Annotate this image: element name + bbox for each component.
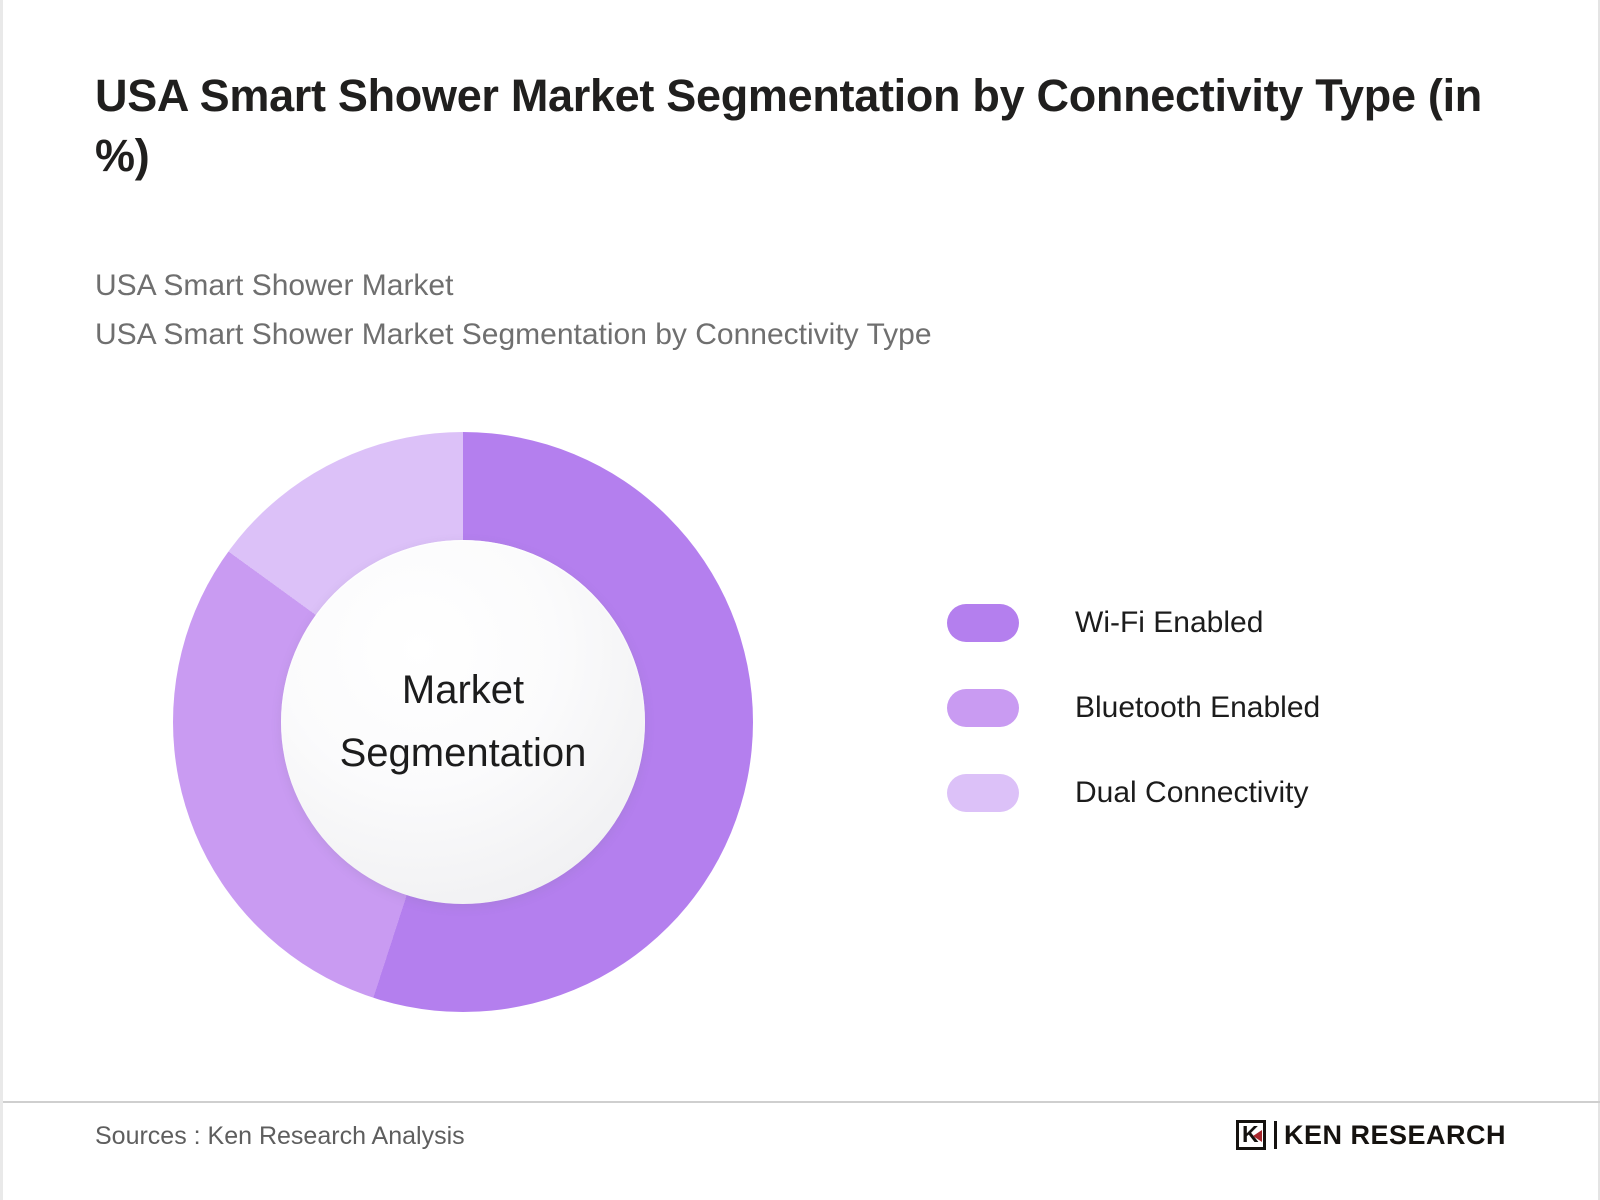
donut-center-line-1: Market (402, 659, 524, 722)
legend-swatch-icon (947, 604, 1019, 642)
donut-center-line-2: Segmentation (340, 722, 587, 785)
chart-legend: Wi-Fi EnabledBluetooth EnabledDual Conne… (947, 580, 1467, 835)
footer-sources: Sources : Ken Research Analysis (95, 1122, 465, 1151)
legend-label: Bluetooth Enabled (1075, 691, 1320, 725)
subtitle-line-1: USA Smart Shower Market (95, 262, 1395, 311)
legend-item[interactable]: Wi-Fi Enabled (947, 580, 1467, 665)
ken-research-logo: K KEN RESEARCH (1236, 1118, 1506, 1152)
legend-label: Dual Connectivity (1075, 776, 1308, 810)
report-page: USA Smart Shower Market Segmentation by … (0, 0, 1600, 1200)
footer-divider (3, 1101, 1600, 1103)
donut-center-disc: Market Segmentation (281, 540, 645, 904)
ken-research-logo-icon: K (1236, 1120, 1266, 1150)
legend-swatch-icon (947, 689, 1019, 727)
legend-item[interactable]: Bluetooth Enabled (947, 665, 1467, 750)
donut-chart: Market Segmentation (173, 432, 753, 1012)
subtitle-line-2: USA Smart Shower Market Segmentation by … (95, 311, 1395, 360)
page-title: USA Smart Shower Market Segmentation by … (95, 66, 1495, 186)
legend-swatch-icon (947, 774, 1019, 812)
logo-triangle-icon (1253, 1130, 1262, 1142)
legend-item[interactable]: Dual Connectivity (947, 750, 1467, 835)
logo-divider-bar (1274, 1121, 1277, 1149)
logo-wordmark: KEN RESEARCH (1284, 1120, 1506, 1151)
legend-label: Wi-Fi Enabled (1075, 606, 1263, 640)
page-subtitle: USA Smart Shower Market USA Smart Shower… (95, 262, 1395, 359)
